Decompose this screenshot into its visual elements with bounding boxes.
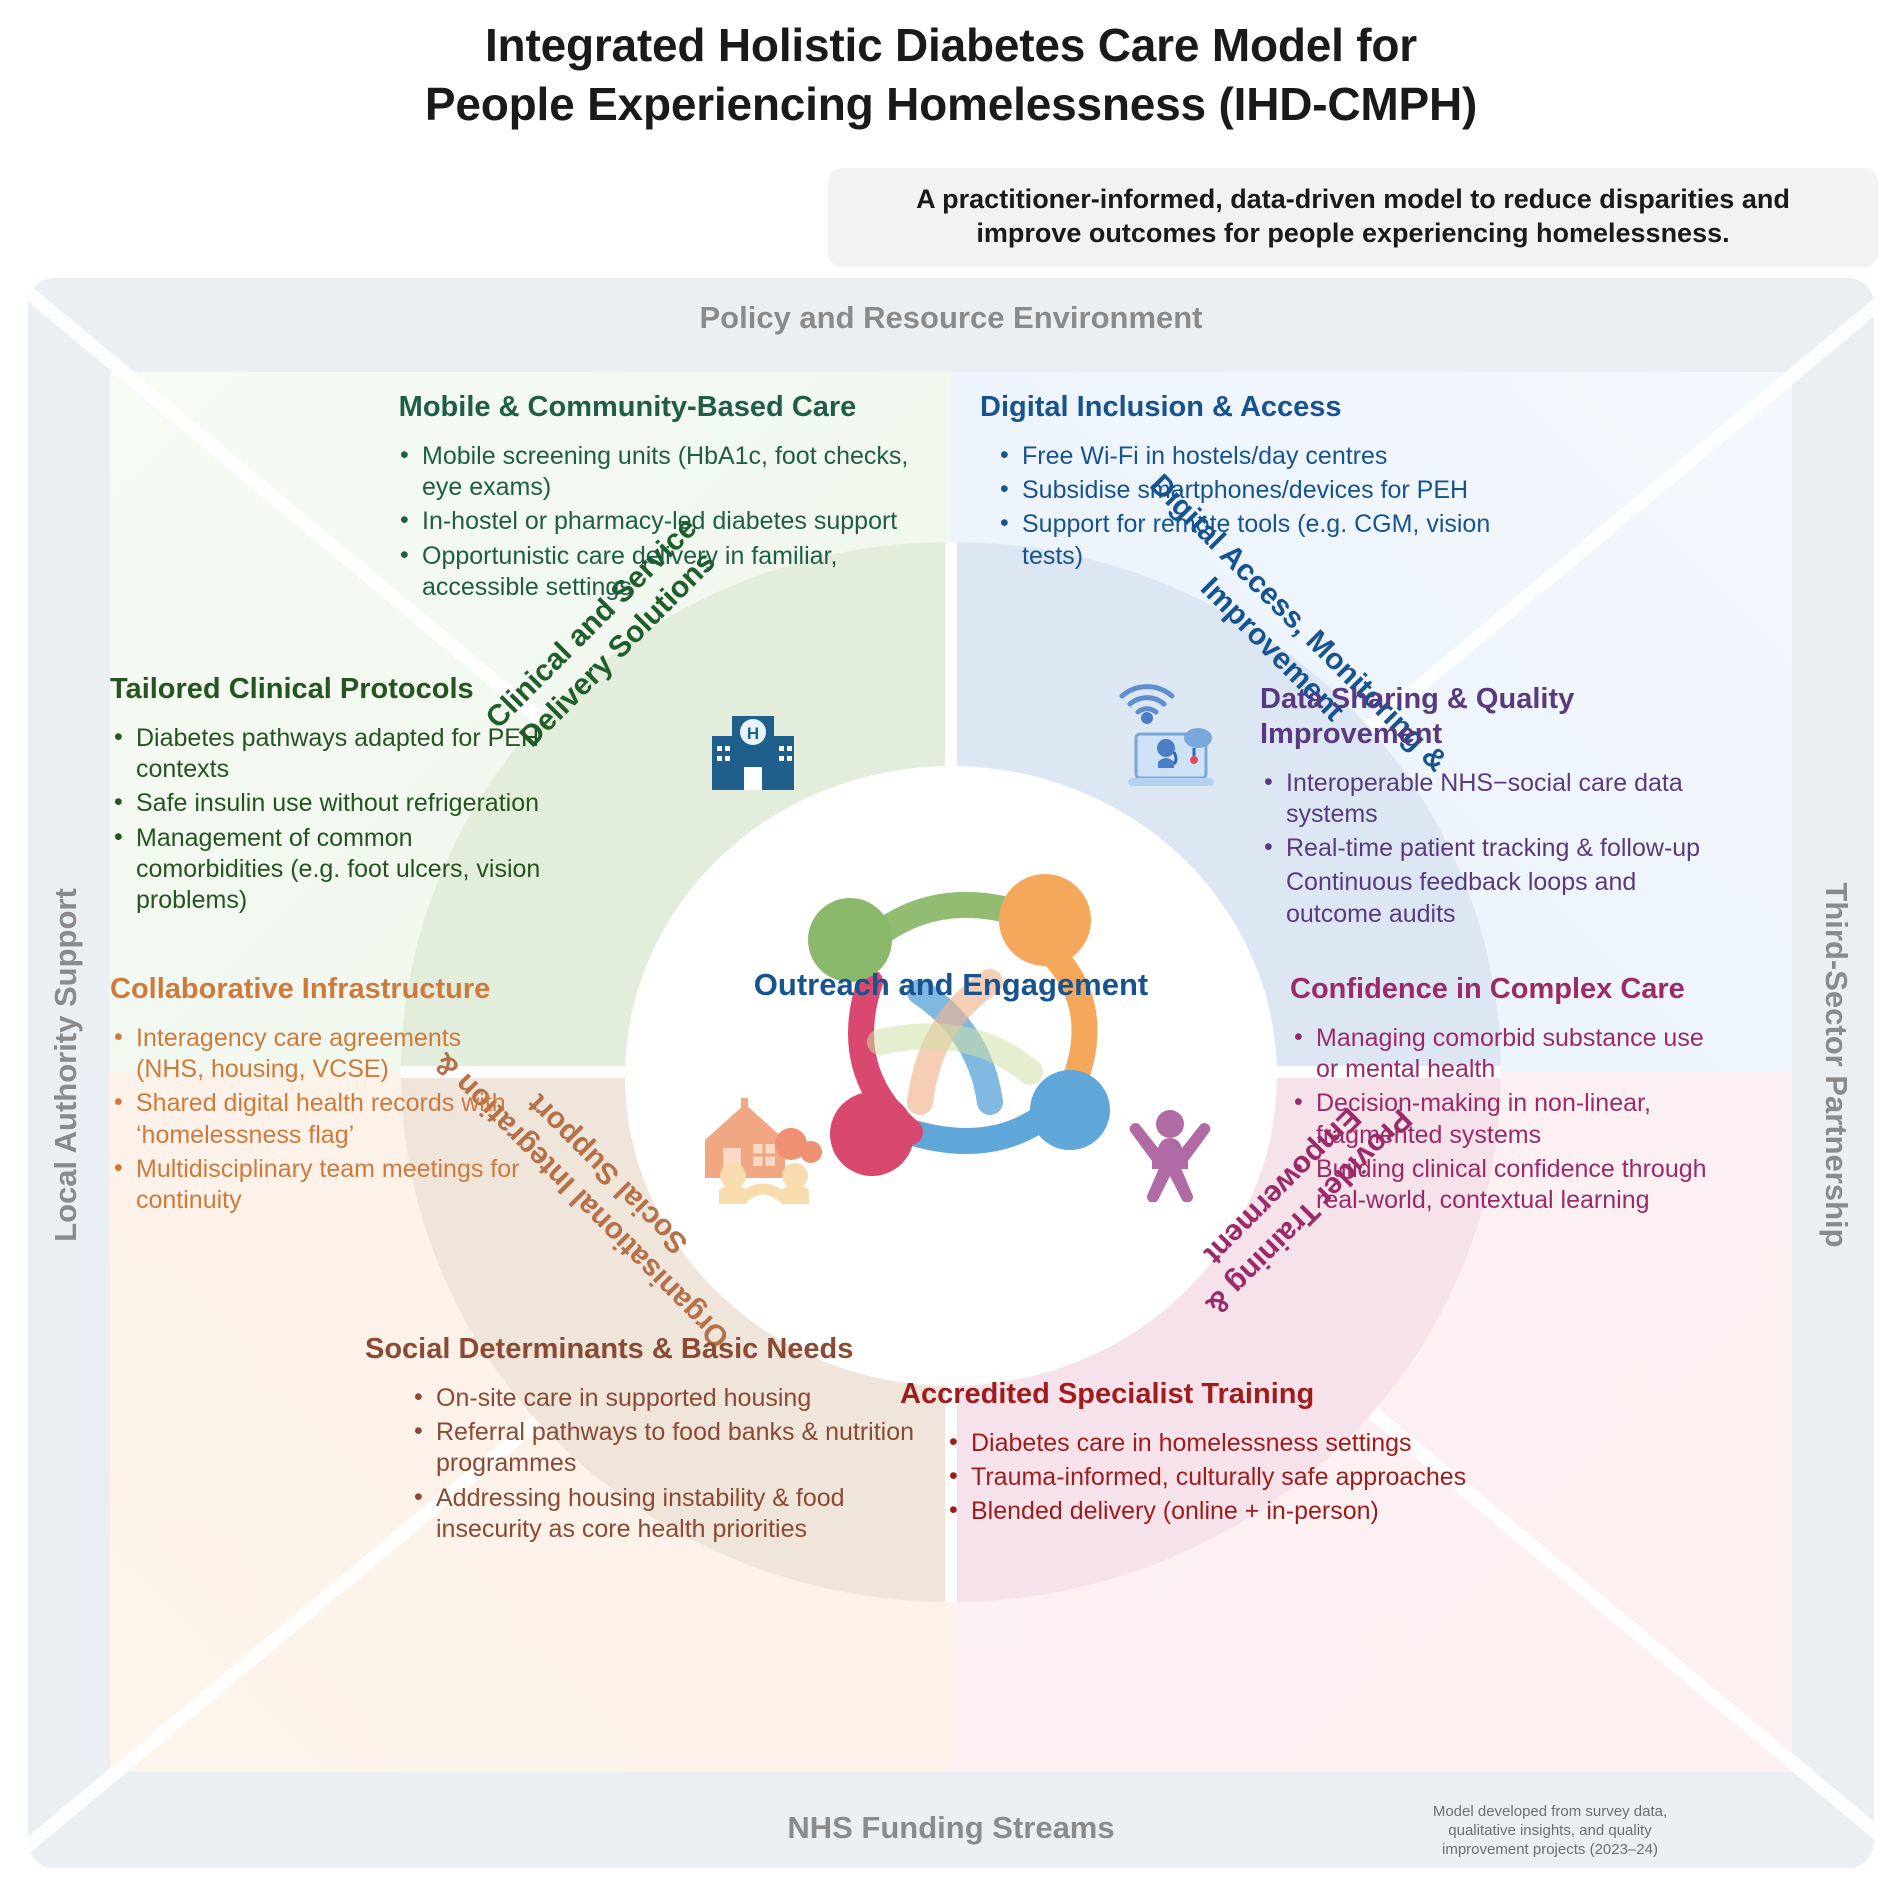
- block-title: Mobile & Community-Based Care: [340, 390, 915, 425]
- title-line-1: Integrated Holistic Diabetes Care Model …: [0, 16, 1902, 75]
- list-item: Support for remote tools (e.g. CGM, visi…: [996, 509, 1540, 572]
- list-item: Opportunistic care delivery in familiar,…: [396, 541, 915, 604]
- block-tailored-clinical-protocols: Tailored Clinical Protocols Diabetes pat…: [110, 672, 560, 919]
- block-accredited-specialist-training: Accredited Specialist Training Diabetes …: [900, 1377, 1500, 1531]
- list-item-unbulleted: Continuous feedback loops and outcome au…: [1260, 867, 1730, 930]
- env-label-top: Policy and Resource Environment: [28, 300, 1874, 336]
- block-mobile-community-care: Mobile & Community-Based Care Mobile scr…: [340, 390, 915, 606]
- block-confidence-complex-care: Confidence in Complex Care Managing como…: [1290, 972, 1730, 1219]
- env-label-left: Local Authority Support: [48, 805, 84, 1325]
- list-item: Multidisciplinary team meetings for cont…: [110, 1154, 530, 1217]
- telehealth-laptop-icon: [1110, 682, 1230, 797]
- block-title: Accredited Specialist Training: [900, 1377, 1500, 1412]
- subtitle-line-2: improve outcomes for people experiencing…: [850, 216, 1856, 250]
- list-item: Decision-making in non-linear, fragmente…: [1290, 1088, 1730, 1151]
- block-title: Collaborative Infrastructure: [110, 972, 530, 1007]
- block-list: Interoperable NHS−social care data syste…: [1260, 768, 1730, 930]
- env-label-right: Third-Sector Partnership: [1818, 805, 1854, 1325]
- list-item: Building clinical confidence through rea…: [1290, 1154, 1730, 1217]
- page-title: Integrated Holistic Diabetes Care Model …: [0, 16, 1902, 134]
- block-list: Free Wi-Fi in hostels/day centres Subsid…: [996, 441, 1540, 572]
- list-item: Diabetes pathways adapted for PEH contex…: [110, 723, 560, 786]
- block-list: Diabetes pathways adapted for PEH contex…: [110, 723, 560, 917]
- subtitle-text: A practitioner-informed, data-driven mod…: [850, 182, 1856, 251]
- header: Integrated Holistic Diabetes Care Model …: [0, 0, 1902, 272]
- list-item: Subsidise smartphones/devices for PEH: [996, 475, 1540, 506]
- list-item: Diabetes care in homelessness settings: [945, 1428, 1500, 1459]
- block-list: Managing comorbid substance use or menta…: [1290, 1023, 1730, 1217]
- subtitle-box: A practitioner-informed, data-driven mod…: [828, 168, 1878, 267]
- footnote-line-3: improvement projects (2023–24): [1400, 1840, 1700, 1859]
- svg-text:H: H: [747, 724, 759, 743]
- footnote-line-1: Model developed from survey data,: [1400, 1802, 1700, 1821]
- block-collaborative-infrastructure: Collaborative Infrastructure Interagency…: [110, 972, 530, 1219]
- list-item: Managing comorbid substance use or menta…: [1290, 1023, 1730, 1086]
- list-item: On-site care in supported housing: [410, 1383, 925, 1414]
- block-title: Digital Inclusion & Access: [980, 390, 1540, 425]
- list-item: Addressing housing instability & food in…: [410, 1483, 925, 1546]
- block-title: Data Sharing & Quality Improvement: [1260, 682, 1730, 752]
- center-label: Outreach and Engagement: [625, 967, 1277, 1003]
- list-item: Real-time patient tracking & follow-up: [1260, 833, 1730, 864]
- block-list: Mobile screening units (HbA1c, foot chec…: [396, 441, 915, 603]
- block-list: On-site care in supported housing Referr…: [410, 1383, 925, 1545]
- block-title: Social Determinants & Basic Needs: [365, 1332, 925, 1367]
- list-item: In-hostel or pharmacy-led diabetes suppo…: [396, 506, 915, 537]
- title-line-2: People Experiencing Homelessness (IHD-CM…: [0, 75, 1902, 134]
- subtitle-line-1: A practitioner-informed, data-driven mod…: [850, 182, 1856, 216]
- list-item: Trauma-informed, culturally safe approac…: [945, 1462, 1500, 1493]
- block-title: Tailored Clinical Protocols: [110, 672, 560, 707]
- list-item: Management of common comorbidities (e.g.…: [110, 823, 560, 917]
- list-item: Referral pathways to food banks & nutrit…: [410, 1417, 925, 1480]
- block-list: Interagency care agreements (NHS, housin…: [110, 1023, 530, 1217]
- block-data-sharing-quality: Data Sharing & Quality Improvement Inter…: [1260, 682, 1730, 933]
- hospital-icon: H: [710, 712, 796, 797]
- block-list: Diabetes care in homelessness settings T…: [945, 1428, 1500, 1528]
- list-item: Mobile screening units (HbA1c, foot chec…: [396, 441, 915, 504]
- list-item: Free Wi-Fi in hostels/day centres: [996, 441, 1540, 472]
- block-social-determinants: Social Determinants & Basic Needs On-sit…: [365, 1332, 925, 1548]
- list-item: Interoperable NHS−social care data syste…: [1260, 768, 1730, 831]
- footnote: Model developed from survey data, qualit…: [1400, 1802, 1700, 1860]
- list-item: Shared digital health records with ‘home…: [110, 1088, 530, 1151]
- list-item: Safe insulin use without refrigeration: [110, 788, 560, 819]
- list-item: Blended delivery (online + in-person): [945, 1496, 1500, 1527]
- block-digital-inclusion: Digital Inclusion & Access Free Wi-Fi in…: [980, 390, 1540, 575]
- list-item: Interagency care agreements (NHS, housin…: [110, 1023, 530, 1086]
- block-title: Confidence in Complex Care: [1290, 972, 1730, 1007]
- footnote-line-2: qualitative insights, and quality: [1400, 1821, 1700, 1840]
- model-canvas: Clinical and Service Delivery Solutions …: [110, 372, 1792, 1772]
